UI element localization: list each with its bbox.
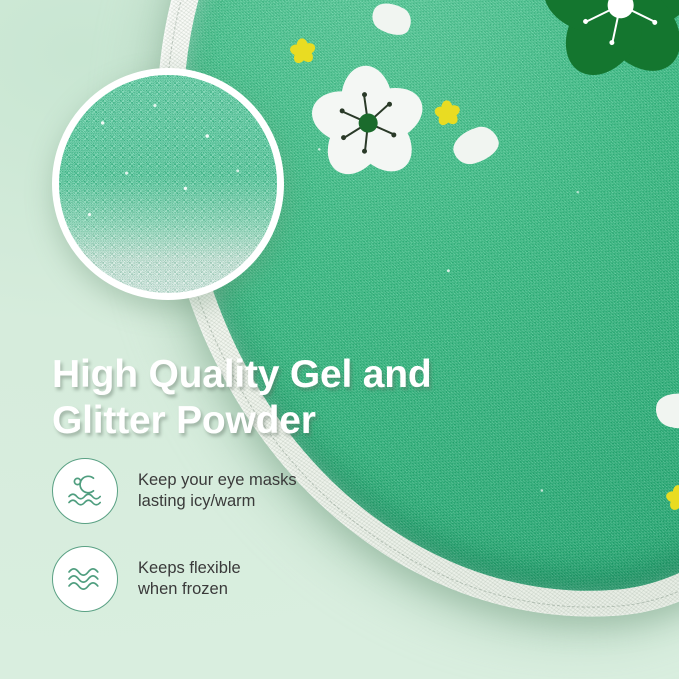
wavy-lines-icon: [52, 546, 118, 612]
feature-list: Keep your eye masks lasting icy/warm Kee…: [52, 458, 382, 634]
sakura-flower-white: [309, 64, 426, 181]
flower-petal: [652, 388, 679, 435]
mini-flower-yellow: [665, 484, 679, 512]
feature-item-temperature: Keep your eye masks lasting icy/warm: [52, 458, 382, 524]
temperature-wave-icon: [52, 458, 118, 524]
flower-petal: [449, 123, 503, 168]
feature-line-2: when frozen: [138, 579, 241, 600]
feature-text: Keeps flexible when frozen: [138, 558, 241, 600]
feature-line-2: lasting icy/warm: [138, 491, 297, 512]
feature-item-flexible: Keeps flexible when frozen: [52, 546, 382, 612]
mini-flower-yellow: [434, 99, 462, 127]
glitter-closeup-magnifier: [52, 68, 284, 300]
product-marketing-image: High Quality Gel and Glitter Powder Keep…: [0, 0, 679, 679]
sakura-flower-green: [540, 0, 679, 85]
feature-text: Keep your eye masks lasting icy/warm: [138, 470, 297, 512]
feature-line-1: Keep your eye masks: [138, 470, 297, 491]
feature-line-1: Keeps flexible: [138, 558, 241, 579]
flower-petal: [367, 0, 417, 42]
page-title: High Quality Gel and Glitter Powder: [52, 352, 482, 444]
glitter-texture: [59, 75, 277, 293]
mini-flower-yellow: [289, 37, 317, 65]
